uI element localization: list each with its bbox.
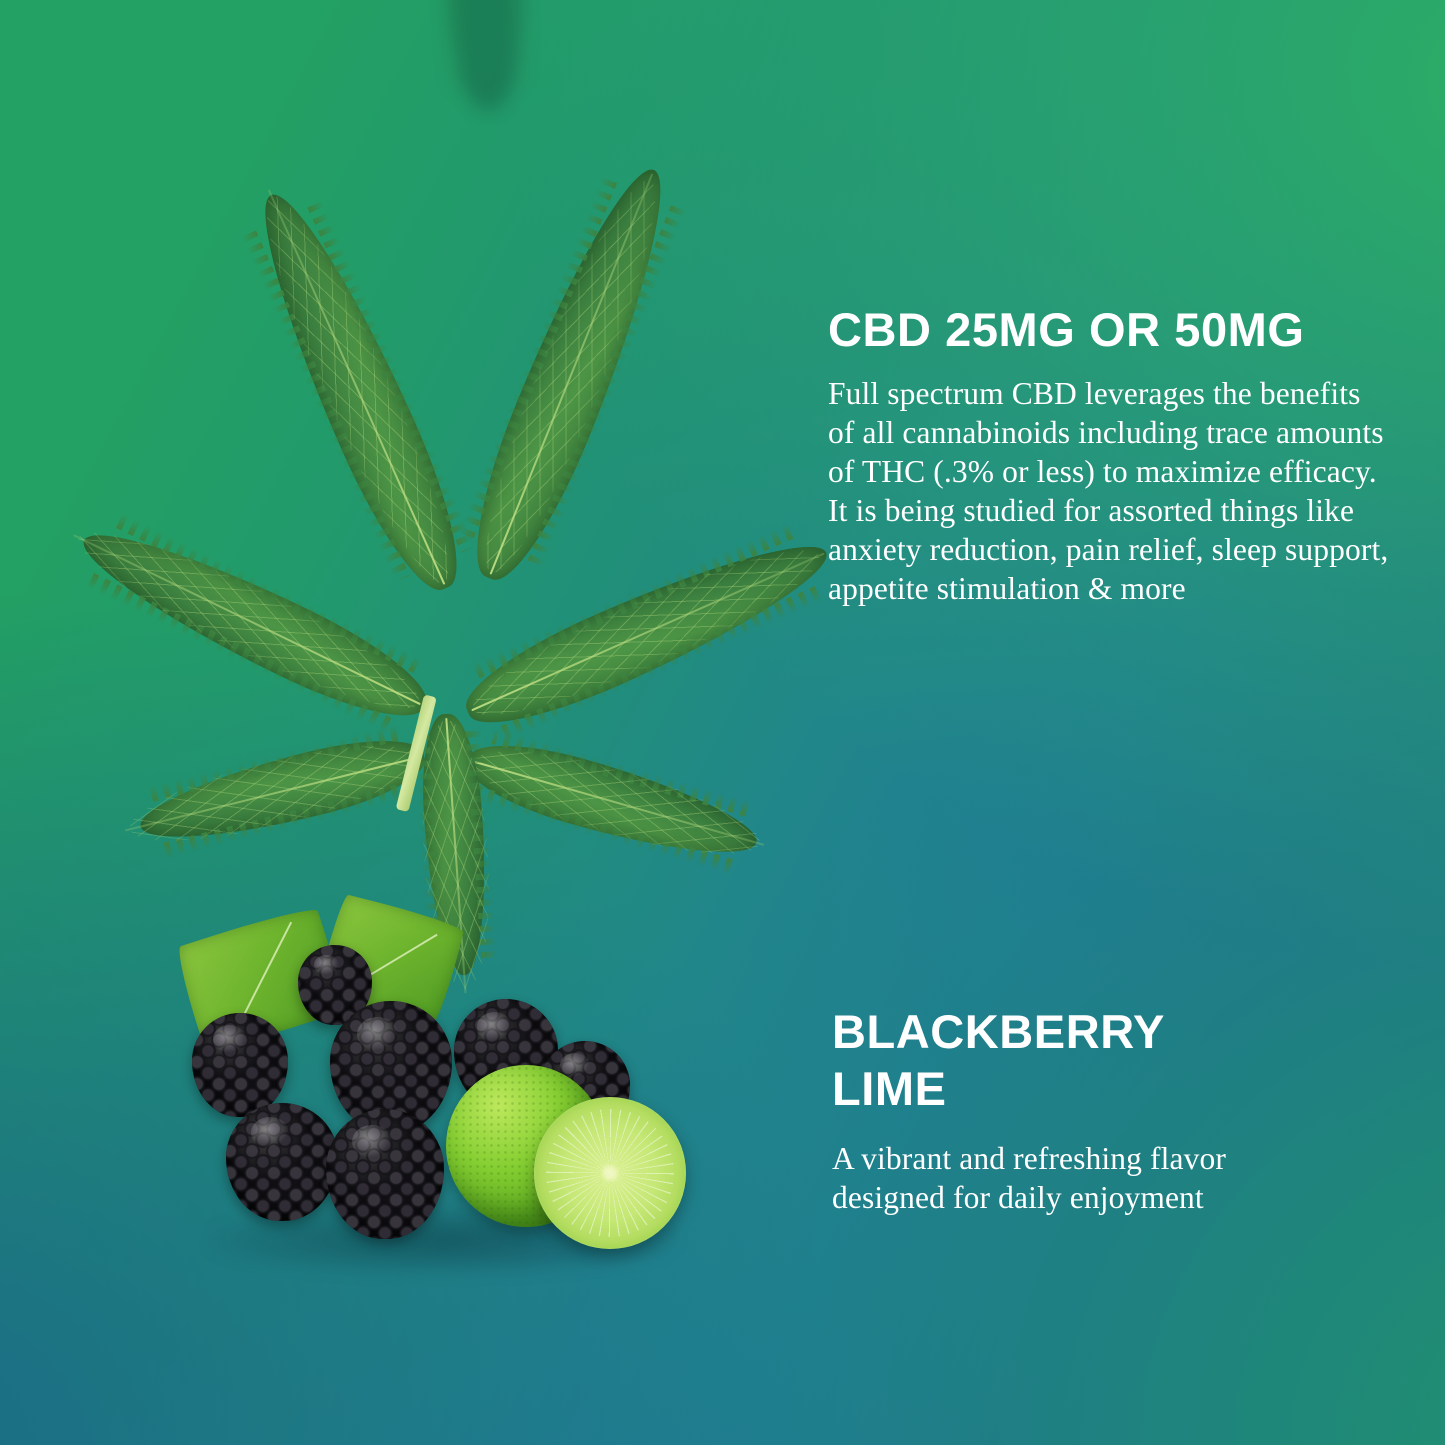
leaflet-lower-left bbox=[104, 756, 424, 836]
lime-half bbox=[534, 1097, 686, 1249]
cbd-body-text: Full spectrum CBD leverages the benefits… bbox=[828, 374, 1394, 608]
flavor-text-block: BLACKBERRY LIME A vibrant and refreshing… bbox=[832, 1003, 1252, 1217]
blackberry-front-center bbox=[326, 1109, 444, 1239]
flavor-body-text: A vibrant and refreshing flavor designed… bbox=[832, 1139, 1232, 1217]
blackberry-far-left bbox=[192, 1013, 288, 1117]
cbd-text-block: CBD 25MG OR 50MG Full spectrum CBD lever… bbox=[828, 303, 1400, 608]
leaf-drop-shadow bbox=[86, 96, 806, 756]
flavor-heading: BLACKBERRY LIME bbox=[832, 1003, 1252, 1117]
cbd-heading: CBD 25MG OR 50MG bbox=[828, 303, 1400, 357]
leaflet-lower-right bbox=[468, 760, 785, 851]
cannabis-leaf-image bbox=[86, 96, 806, 756]
product-feature-poster: CBD 25MG OR 50MG Full spectrum CBD lever… bbox=[0, 0, 1445, 1445]
blackberry-lime-image bbox=[168, 905, 728, 1280]
blackberry-front-left bbox=[226, 1103, 338, 1221]
